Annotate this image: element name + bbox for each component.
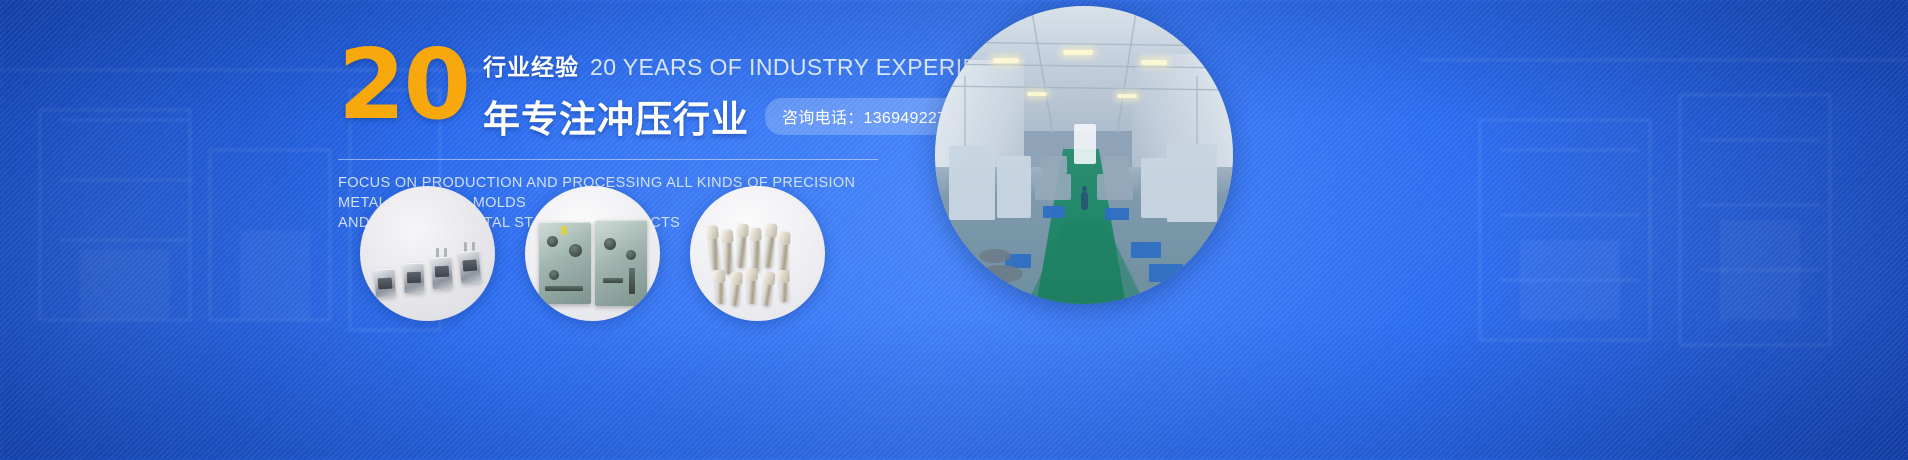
connector-part <box>403 263 424 294</box>
ceiling-lamp <box>1027 92 1047 96</box>
product-circle-precision-stamping-mold[interactable] <box>525 186 660 321</box>
product-circle-stamped-metal-pins[interactable] <box>690 186 825 321</box>
mold-hole <box>569 244 582 257</box>
stamped-pin <box>723 230 733 274</box>
stamped-pin <box>751 228 761 272</box>
stamped-pin <box>715 270 725 304</box>
stamped-pin <box>779 270 789 302</box>
connector-part <box>374 268 396 297</box>
mold-hole <box>547 236 558 247</box>
mold-hole <box>604 238 616 250</box>
ceiling-lamp <box>993 58 1019 63</box>
factory-photo-circle[interactable] <box>935 6 1233 304</box>
stamped-pin <box>731 272 741 306</box>
mold-hole <box>549 270 559 280</box>
mold-hole <box>626 250 636 260</box>
mold-slot <box>545 286 583 291</box>
product-circle-metal-stamped-connectors[interactable] <box>360 186 495 321</box>
stamped-pin <box>708 226 721 271</box>
connector-part <box>431 256 453 289</box>
mold-slot <box>629 268 635 294</box>
promo-banner: 20 行业经验 20 YEARS OF INDUSTRY EXPERIENCE … <box>0 0 1908 460</box>
ceiling-lamp <box>1141 60 1167 65</box>
ceiling-lamp <box>1117 94 1137 98</box>
mold-block-left <box>539 222 591 304</box>
headline-cn-large: 年专注冲压行业 <box>483 89 749 143</box>
mold-slot <box>603 278 623 283</box>
stamped-pin <box>737 224 747 268</box>
stamped-pin <box>748 268 757 304</box>
mold-block-right <box>595 220 647 306</box>
ceiling-lamp <box>1063 50 1093 55</box>
years-number: 20 <box>338 42 469 127</box>
mold-marker <box>561 226 567 235</box>
headline-row: 20 行业经验 20 YEARS OF INDUSTRY EXPERIENCE … <box>338 38 898 143</box>
product-circle-group <box>360 186 825 321</box>
stamped-pin <box>764 224 775 268</box>
headline-cn-small: 行业经验 <box>483 48 579 82</box>
connector-part <box>459 250 482 284</box>
stamped-pin <box>763 272 774 307</box>
divider-rule <box>338 159 878 160</box>
